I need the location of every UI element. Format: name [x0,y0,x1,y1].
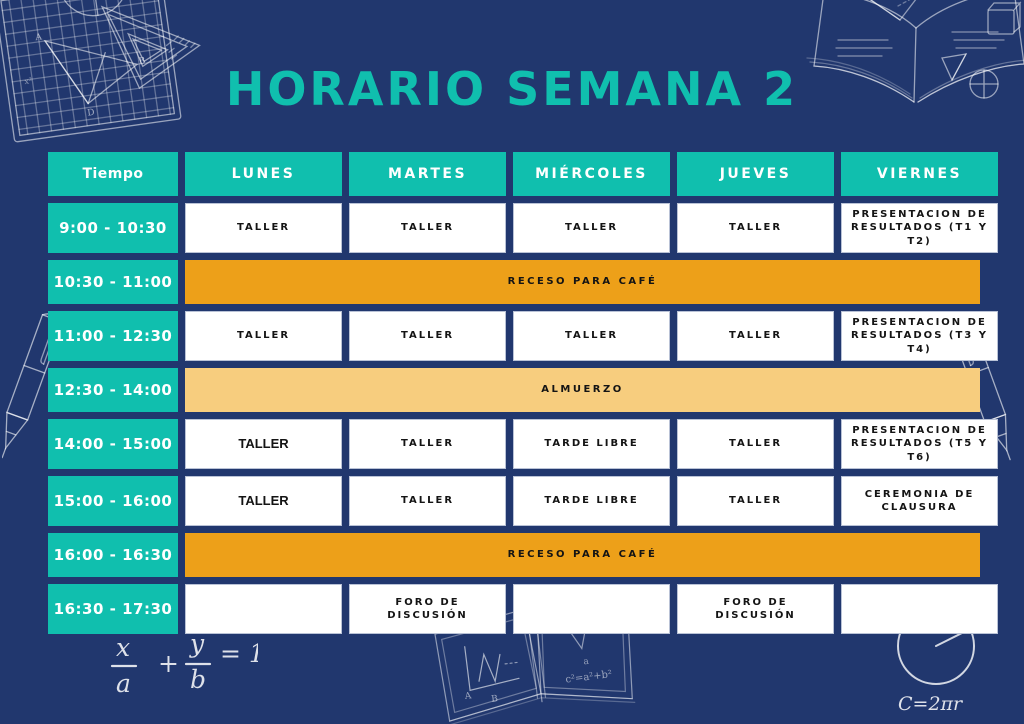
svg-text:= 1: = 1 [220,639,258,668]
column-header-jueves: JUEVES [677,152,834,196]
schedule-cell-jueves[interactable]: TALLER [677,419,834,469]
schedule-cell-martes[interactable]: TALLER [349,203,506,253]
column-header-miercoles: MIÉRCOLES [513,152,670,196]
schedule-cell-miercoles[interactable]: TALLER [513,203,670,253]
schedule-cell-viernes[interactable]: PRESENTACION DE RESULTADOS (T3 Y T4) [841,311,998,361]
schedule-cell-lunes[interactable]: TALLER [185,311,342,361]
svg-text:x: x [116,633,130,662]
schedule-cell-miercoles[interactable]: TARDE LIBRE [513,419,670,469]
svg-text:B: B [491,694,499,705]
schedule-cell-martes[interactable]: FORO DE DISCUSIÓN [349,584,506,634]
schedule-table: Tiempo LUNES MARTES MIÉRCOLES JUEVES VIE… [48,152,980,634]
schedule-cell-miercoles[interactable]: TARDE LIBRE [513,476,670,526]
svg-text:b: b [190,665,206,694]
schedule-cell-viernes[interactable]: PRESENTACION DE RESULTADOS (T1 Y T2) [841,203,998,253]
schedule-cell-viernes[interactable]: PRESENTACION DE RESULTADOS (T5 Y T6) [841,419,998,469]
schedule-cell-lunes[interactable]: TALLER [185,476,342,526]
table-row: 14:00 - 15:00 TALLER TALLER TARDE LIBRE … [48,419,980,469]
time-slot: 11:00 - 12:30 [48,311,178,361]
schedule-cell-coffee-break[interactable]: RECESO PARA CAFÉ [185,260,980,304]
column-header-lunes: LUNES [185,152,342,196]
table-row: 15:00 - 16:00 TALLER TALLER TARDE LIBRE … [48,476,980,526]
schedule-cell-lunes[interactable]: TALLER [185,203,342,253]
schedule-cell-lunch[interactable]: ALMUERZO [185,368,980,412]
schedule-cell-miercoles[interactable] [513,584,670,634]
time-slot: 10:30 - 11:00 [48,260,178,304]
schedule-cell-coffee-break[interactable]: RECESO PARA CAFÉ [185,533,980,577]
schedule-cell-jueves[interactable]: FORO DE DISCUSIÓN [677,584,834,634]
table-row: 16:30 - 17:30 FORO DE DISCUSIÓN FORO DE … [48,584,980,634]
time-slot: 12:30 - 14:00 [48,368,178,412]
table-header-row: Tiempo LUNES MARTES MIÉRCOLES JUEVES VIE… [48,152,980,196]
svg-text:c²=a²+b²: c²=a²+b² [565,669,613,686]
schedule-cell-martes[interactable]: TALLER [349,419,506,469]
svg-text:a: a [583,657,590,668]
time-slot: 16:00 - 16:30 [48,533,178,577]
table-row-lunch: 12:30 - 14:00 ALMUERZO [48,368,980,412]
schedule-cell-lunes[interactable] [185,584,342,634]
schedule-cell-jueves[interactable]: TALLER [677,203,834,253]
page-title: HORARIO SEMANA 2 [0,62,1024,116]
column-header-tiempo: Tiempo [48,152,178,196]
schedule-cell-martes[interactable]: TALLER [349,476,506,526]
time-slot: 16:30 - 17:30 [48,584,178,634]
column-header-martes: MARTES [349,152,506,196]
schedule-cell-jueves[interactable]: TALLER [677,311,834,361]
table-row: 9:00 - 10:30 TALLER TALLER TALLER TALLER… [48,203,980,253]
table-row-break: 10:30 - 11:00 RECESO PARA CAFÉ [48,260,980,304]
time-slot: 9:00 - 10:30 [48,203,178,253]
column-header-viernes: VIERNES [841,152,998,196]
time-slot: 14:00 - 15:00 [48,419,178,469]
schedule-cell-viernes[interactable]: CEREMONIA DE CLAUSURA [841,476,998,526]
schedule-cell-martes[interactable]: TALLER [349,311,506,361]
schedule-cell-jueves[interactable]: TALLER [677,476,834,526]
schedule-cell-viernes[interactable] [841,584,998,634]
svg-text:C=2πr: C=2πr [898,693,964,715]
svg-text:a: a [116,669,131,698]
time-slot: 15:00 - 16:00 [48,476,178,526]
svg-text:A: A [463,691,472,702]
table-row-break: 16:00 - 16:30 RECESO PARA CAFÉ [48,533,980,577]
svg-text:A: A [34,32,43,43]
table-row: 11:00 - 12:30 TALLER TALLER TALLER TALLE… [48,311,980,361]
linear-equation-formula: x a + y b = 1 [108,626,258,702]
schedule-cell-lunes[interactable]: TALLER [185,419,342,469]
svg-text:+: + [158,649,179,678]
schedule-cell-miercoles[interactable]: TALLER [513,311,670,361]
